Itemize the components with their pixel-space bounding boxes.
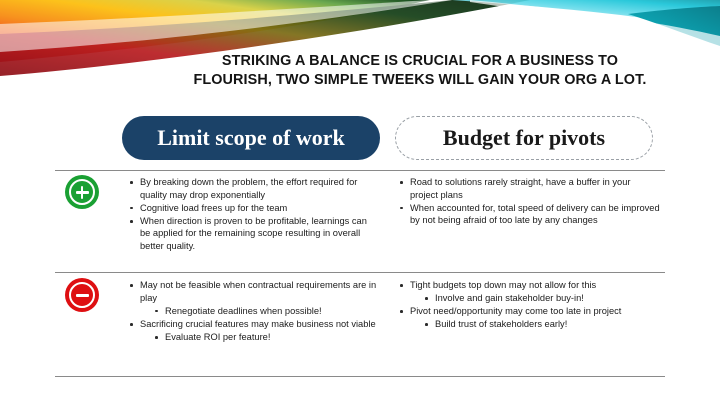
bullet-text: Pivot need/opportunity may come too late… [410,305,660,318]
sub-bullet-list: Build trust of stakeholders early! [410,318,660,331]
column-header-label-left: Limit scope of work [157,125,345,151]
bullet-list: Tight budgets top down may not allow for… [398,279,660,331]
slide-title: STRIKING A BALANCE IS CRUCIAL FOR A BUSI… [140,52,700,90]
bullet-item: By breaking down the problem, the effort… [128,176,378,201]
bullet-text: By breaking down the problem, the effort… [140,176,378,201]
column-header-limit-scope-of-work[interactable]: Limit scope of work [122,116,380,160]
row-negatives: May not be feasible when contractual req… [0,279,720,375]
bullet-list: By breaking down the problem, the effort… [128,176,378,253]
bullet-item: When accounted for, total speed of deliv… [398,202,660,227]
bullet-item: May not be feasible when contractual req… [128,279,378,317]
bullet-item: Sacrificing crucial features may make bu… [128,318,378,344]
sub-bullet-list: Involve and gain stakeholder buy-in! [410,292,660,305]
column-header-label-right: Budget for pivots [443,125,605,151]
sub-bullet-item: Build trust of stakeholders early! [424,318,660,331]
bullet-item: Tight budgets top down may not allow for… [398,279,660,305]
column-headers: Limit scope of work Budget for pivots [0,116,720,164]
bullet-item: Pivot need/opportunity may come too late… [398,305,660,331]
cell-negatives-right: Tight budgets top down may not allow for… [398,279,660,331]
cell-positives-right: Road to solutions rarely straight, have … [398,176,660,227]
bullet-item: When direction is proven to be profitabl… [128,215,378,253]
sub-bullet-list: Renegotiate deadlines when possible! [140,305,378,318]
divider-bottom [55,376,665,377]
bullet-list: May not be feasible when contractual req… [128,279,378,343]
divider-top [55,170,665,171]
bullet-text: Cognitive load frees up for the team [140,202,378,215]
bullet-text: Sacrificing crucial features may make bu… [140,318,378,331]
bullet-item: Cognitive load frees up for the team [128,202,378,215]
sub-bullet-item: Renegotiate deadlines when possible! [154,305,378,318]
divider-middle [55,272,665,273]
bullet-item: Road to solutions rarely straight, have … [398,176,660,201]
slide-title-line-2: FLOURISH, TWO SIMPLE TWEEKS WILL GAIN YO… [140,71,700,90]
cell-positives-left: By breaking down the problem, the effort… [128,176,378,253]
bullet-list: Road to solutions rarely straight, have … [398,176,660,227]
bullet-text: Tight budgets top down may not allow for… [410,279,660,292]
sub-bullet-list: Evaluate ROI per feature! [140,331,378,344]
slide-canvas: STRIKING A BALANCE IS CRUCIAL FOR A BUSI… [0,0,720,405]
sub-bullet-item: Involve and gain stakeholder buy-in! [424,292,660,305]
bullet-text: May not be feasible when contractual req… [140,279,378,304]
content-grid: By breaking down the problem, the effort… [0,176,720,272]
bullet-text: When accounted for, total speed of deliv… [410,202,660,227]
sub-bullet-item: Evaluate ROI per feature! [154,331,378,344]
column-header-budget-for-pivots[interactable]: Budget for pivots [395,116,653,160]
slide-title-line-1: STRIKING A BALANCE IS CRUCIAL FOR A BUSI… [140,52,700,71]
bullet-text: When direction is proven to be profitabl… [140,215,378,253]
cell-negatives-left: May not be feasible when contractual req… [128,279,378,344]
row-positives: By breaking down the problem, the effort… [0,176,720,272]
bullet-text: Road to solutions rarely straight, have … [410,176,660,201]
